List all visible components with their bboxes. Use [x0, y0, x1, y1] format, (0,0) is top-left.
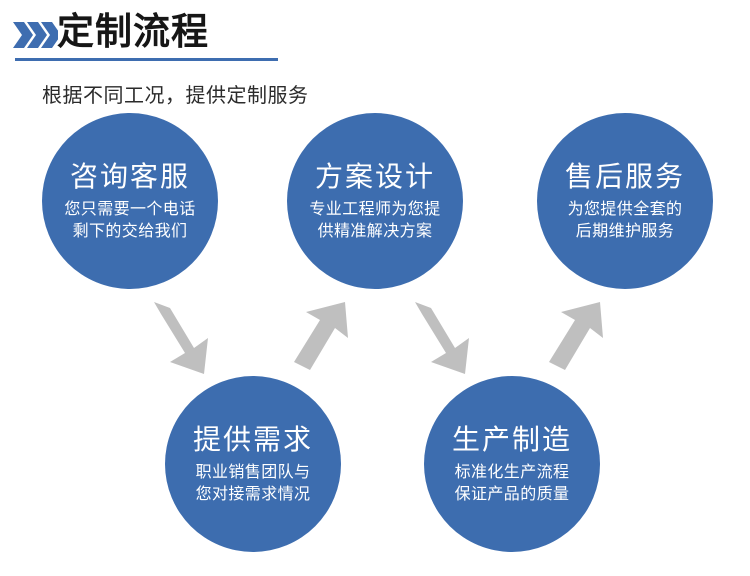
customization-process-infographic: 定制流程 根据不同工况，提供定制服务 咨询客服 您只需要一个电话 剩下的交给我们… — [0, 0, 750, 576]
page-title: 定制流程 — [57, 9, 209, 54]
step-title: 方案设计 — [315, 160, 435, 194]
arrow-up-right-icon — [288, 300, 354, 374]
step-desc-line2: 保证产品的质量 — [455, 484, 570, 506]
arrow-down-right-icon — [409, 302, 475, 374]
process-step-after-sales[interactable]: 售后服务 为您提供全套的 后期维护服务 — [537, 113, 713, 289]
title-underline — [15, 58, 278, 61]
step-desc-line2: 供精准解决方案 — [318, 221, 433, 243]
step-title: 提供需求 — [193, 423, 313, 457]
triple-chevron-right-icon — [12, 20, 58, 50]
step-desc-line2: 剩下的交给我们 — [73, 221, 188, 243]
step-desc-line1: 您只需要一个电话 — [64, 199, 195, 221]
page-subtitle: 根据不同工况，提供定制服务 — [42, 79, 309, 108]
process-step-requirements[interactable]: 提供需求 职业销售团队与 您对接需求情况 — [165, 376, 341, 552]
step-desc-line2: 您对接需求情况 — [196, 484, 311, 506]
step-title: 咨询客服 — [70, 160, 190, 194]
process-step-design[interactable]: 方案设计 专业工程师为您提 供精准解决方案 — [287, 113, 463, 289]
step-title: 生产制造 — [452, 423, 572, 457]
step-title: 售后服务 — [565, 160, 685, 194]
step-desc-line1: 专业工程师为您提 — [309, 199, 440, 221]
page-header: 定制流程 根据不同工况，提供定制服务 — [0, 0, 750, 115]
step-desc-line1: 为您提供全套的 — [568, 199, 683, 221]
arrow-up-right-icon — [543, 300, 609, 374]
arrow-down-right-icon — [148, 302, 214, 374]
step-desc-line1: 职业销售团队与 — [196, 462, 311, 484]
step-desc-line2: 后期维护服务 — [576, 221, 674, 243]
step-desc-line1: 标准化生产流程 — [455, 462, 570, 484]
process-step-manufacturing[interactable]: 生产制造 标准化生产流程 保证产品的质量 — [424, 376, 600, 552]
process-step-consult[interactable]: 咨询客服 您只需要一个电话 剩下的交给我们 — [42, 113, 218, 289]
